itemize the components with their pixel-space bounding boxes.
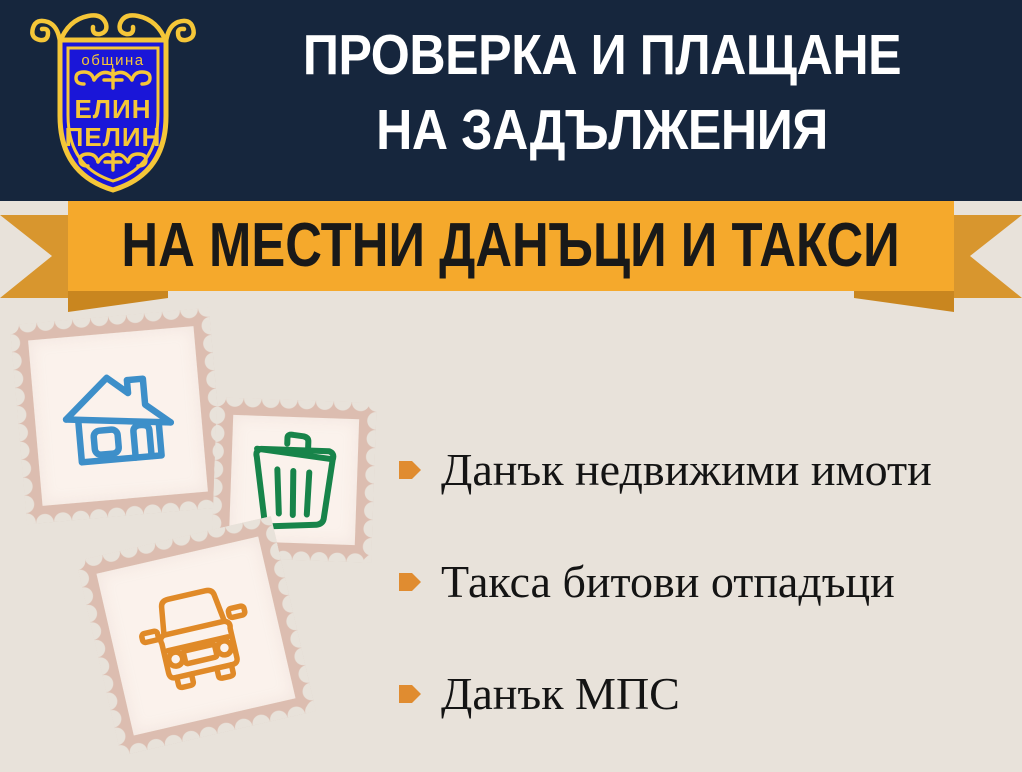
page-title: ПРОВЕРКА И ПЛАЩАНЕ НА ЗАДЪЛЖЕНИЯ [245, 18, 960, 168]
pentagon-arrow-right-icon [398, 457, 422, 483]
ribbon-label: НА МЕСТНИ ДАНЪЦИ И ТАКСИ [122, 215, 900, 277]
list-item[interactable]: Такса битови отпадъци [398, 526, 1008, 638]
trash-can-icon [244, 428, 343, 531]
tax-type-list: Данък недвижими имоти Такса битови отпад… [398, 414, 1008, 750]
stamp-card-property [10, 308, 227, 525]
poster-canvas: община ЕЛИН ПЕЛИН [0, 0, 1022, 772]
ribbon-body: НА МЕСТНИ ДАНЪЦИ И ТАКСИ [68, 201, 954, 291]
stamp-paper [96, 536, 295, 735]
municipality-logo: община ЕЛИН ПЕЛИН [28, 8, 198, 194]
ribbon-fold-right [854, 290, 954, 312]
list-item-label: Данък недвижими имоти [441, 444, 932, 496]
pentagon-arrow-right-icon [398, 569, 422, 595]
house-icon [53, 356, 182, 476]
logo-obshtina-text: община [81, 52, 144, 69]
car-icon [125, 572, 267, 701]
subtitle-ribbon: НА МЕСТНИ ДАНЪЦИ И ТАКСИ [0, 201, 1022, 313]
page-title-line-1: ПРОВЕРКА И ПЛАЩАНЕ [245, 18, 960, 93]
logo-name-line2: ПЕЛИН [65, 122, 162, 152]
header-banner: община ЕЛИН ПЕЛИН [0, 0, 1022, 201]
list-item-label: Данък МПС [441, 668, 680, 720]
list-item-label: Такса битови отпадъци [441, 556, 895, 608]
stamp-scallop-right [362, 394, 386, 573]
stamp-paper [28, 326, 208, 506]
list-item[interactable]: Данък недвижими имоти [398, 414, 1008, 526]
page-title-line-2: НА ЗАДЪЛЖЕНИЯ [245, 93, 960, 168]
pentagon-arrow-right-icon [398, 681, 422, 707]
list-item[interactable]: Данък МПС [398, 638, 1008, 750]
stamp-scallop-top [208, 388, 387, 412]
logo-name-line1: ЕЛИН [74, 94, 151, 124]
ribbon-fold-left [68, 290, 168, 312]
